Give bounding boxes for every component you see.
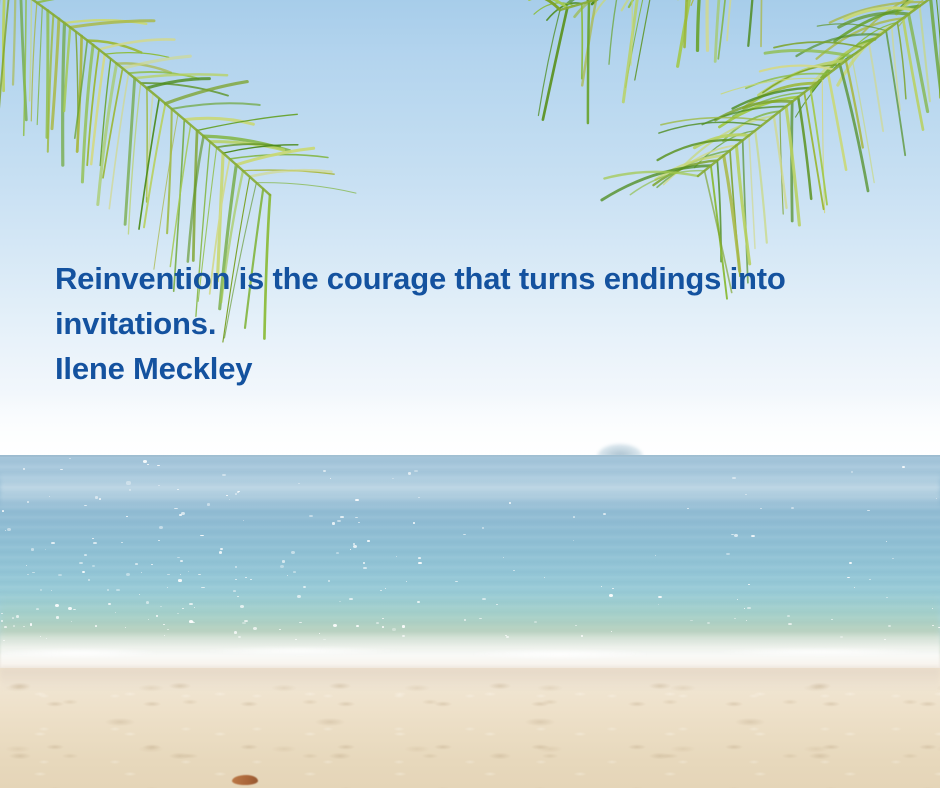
quote-line-2: invitations. [55, 301, 885, 346]
sand-texture-layer-2 [0, 676, 940, 788]
sea-sparkles [0, 455, 940, 655]
quote-card-scene: Reinvention is the courage that turns en… [0, 0, 940, 788]
quote-block: Reinvention is the courage that turns en… [55, 256, 885, 391]
horizon-haze [0, 392, 940, 458]
sand-debris-object [232, 775, 258, 785]
surf-foam-edge [0, 646, 940, 660]
quote-author: Ilene Meckley [55, 346, 885, 391]
quote-line-1: Reinvention is the courage that turns en… [55, 256, 885, 301]
